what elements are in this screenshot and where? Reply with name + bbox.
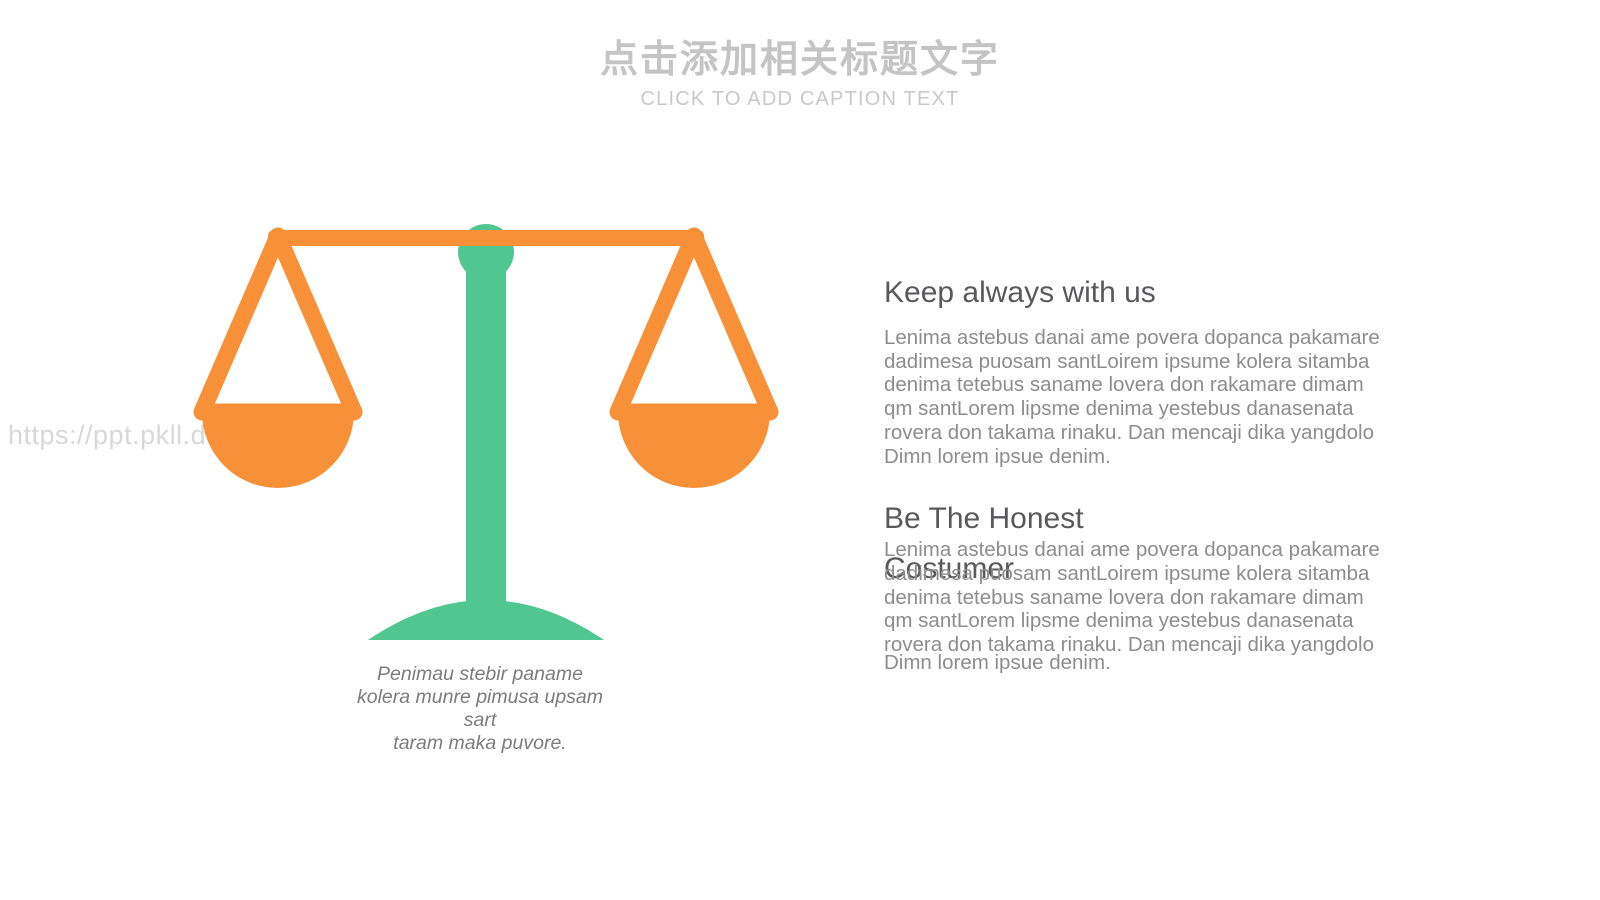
scale-caption-line-3: sart (320, 709, 640, 732)
scale-pillar-shape (466, 240, 506, 615)
content-column: Keep always with us Lenima astebus danai… (884, 268, 1384, 674)
scale-beam-shape (268, 230, 704, 246)
page-subtitle: CLICK TO ADD CAPTION TEXT (0, 86, 1600, 112)
scale-pan-left-shape (202, 236, 354, 488)
balance-scale-illustration (150, 200, 810, 670)
scale-caption-line-2: kolera munre pimusa upsam (320, 686, 640, 709)
content-block-1: Keep always with us Lenima astebus danai… (884, 268, 1384, 468)
scale-base-shape (368, 600, 604, 640)
content-block-2: Be The Honest Costumer Lenima astebus da… (884, 494, 1384, 674)
content-block-2-body: Lenima astebus danai ame povera dopanca … (884, 538, 1382, 657)
content-block-1-body: Lenima astebus danai ame povera dopanca … (884, 326, 1382, 445)
page-title: 点击添加相关标题文字 (0, 38, 1600, 82)
scale-caption-line-4: taram maka puvore. (320, 732, 640, 755)
page-header: 点击添加相关标题文字 CLICK TO ADD CAPTION TEXT (0, 38, 1600, 112)
content-block-1-heading: Keep always with us (884, 268, 1184, 318)
scale-pan-right-shape (618, 236, 770, 488)
content-block-1-body-last-line: Dimn lorem ipsue denim. (884, 445, 1382, 469)
scale-caption: Penimau stebir paname kolera munre pimus… (320, 663, 640, 755)
content-block-2-heading: Be The Honest Costumer (884, 494, 1154, 544)
